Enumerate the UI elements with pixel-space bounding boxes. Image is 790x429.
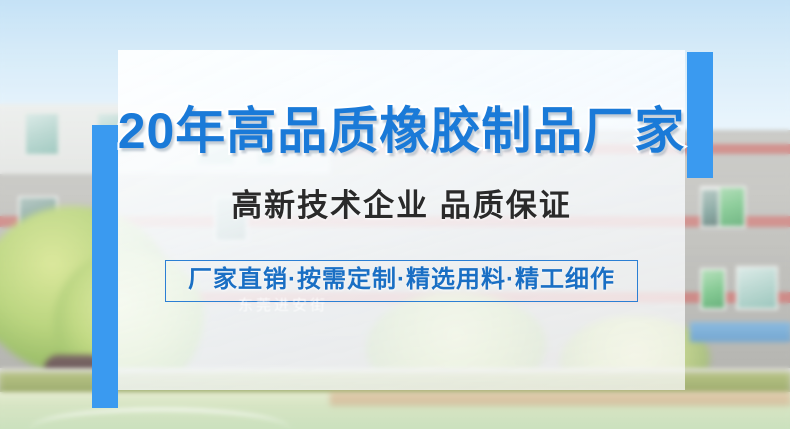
window <box>736 266 778 310</box>
content-stack: 20年高品质橡胶制品厂家 高新技术企业 品质保证 厂家直销·按需定制·精选用料·… <box>118 50 685 390</box>
accent-bar-left <box>92 125 118 408</box>
subheadline-text: 高新技术企业 品质保证 <box>231 190 572 221</box>
window <box>24 112 60 156</box>
window <box>700 268 726 310</box>
running-track <box>330 392 790 406</box>
promo-banner: 20年高品质橡胶制品厂家 高新技术企业 品质保证 厂家直销·按需定制·精选用料·… <box>0 0 790 429</box>
blue-canopy <box>690 322 790 342</box>
tagline-text: 厂家直销·按需定制·精选用料·精工细作 <box>188 268 615 292</box>
headline-text: 20年高品质橡胶制品厂家 <box>118 106 686 156</box>
tagline-box: 厂家直销·按需定制·精选用料·精工细作 <box>165 260 638 302</box>
accent-bar-right <box>687 52 713 178</box>
window <box>700 188 720 228</box>
background-watermark-text: 东莞进安街 <box>238 294 328 315</box>
